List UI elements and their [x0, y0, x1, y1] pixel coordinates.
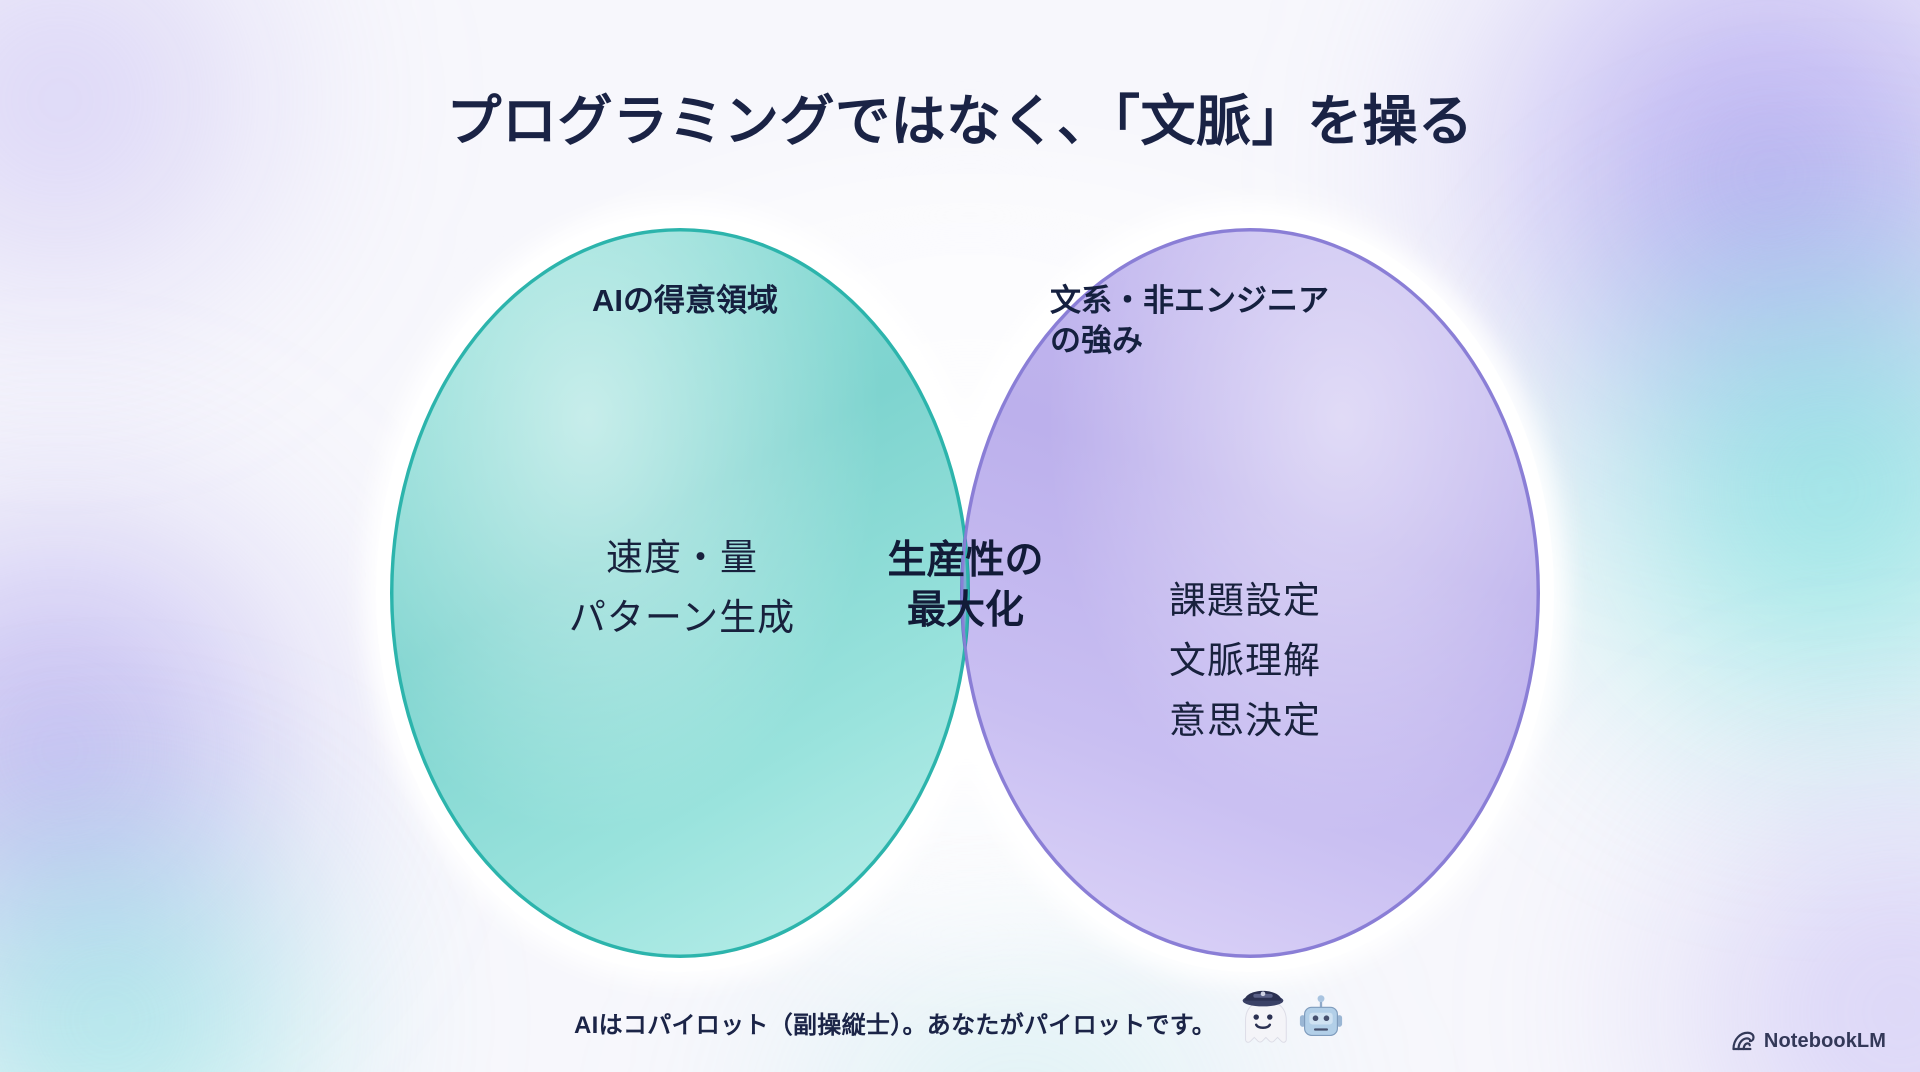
left-circle-item: 速度・量 — [462, 528, 902, 588]
notebooklm-watermark: NotebookLM — [1731, 1029, 1886, 1054]
right-circle-item: 意思決定 — [1080, 691, 1410, 751]
overlap-text-line: 最大化 — [858, 586, 1073, 636]
notebooklm-spiral-icon — [1731, 1029, 1756, 1054]
venn-overlap-text: 生産性の 最大化 — [858, 536, 1073, 636]
footer-emoji-group — [1232, 988, 1346, 1050]
footer-row: AIはコパイロット（副操縦士）。あなたがパイロットです。 — [0, 994, 1920, 1050]
left-circle-label: AIの得意領域 — [500, 281, 870, 321]
overlap-text-line: 生産性の — [858, 536, 1073, 586]
background-blob-top-left-purple — [0, 0, 370, 360]
right-circle-label: 文系・非エンジニア の強み — [1050, 281, 1450, 362]
slide-title: プログラミングではなく、「文脈」を操る — [0, 76, 1920, 156]
robot-emoji — [1296, 994, 1346, 1044]
notebooklm-brand-text: NotebookLM — [1764, 1030, 1886, 1053]
pilot-ghost-emoji — [1232, 988, 1294, 1050]
right-circle-item: 課題設定 — [1080, 571, 1410, 631]
left-circle-items: 速度・量 パターン生成 — [462, 528, 902, 648]
right-circle-label-line: の強み — [1050, 321, 1450, 361]
right-circle-items: 課題設定 文脈理解 意思決定 — [1080, 571, 1410, 751]
slide-canvas: プログラミングではなく、「文脈」を操る — [0, 0, 1920, 1072]
background-blob-left-purple — [0, 430, 380, 1070]
right-circle-label-line: 文系・非エンジニア — [1050, 281, 1450, 321]
left-circle-item: パターン生成 — [462, 588, 902, 648]
right-circle-item: 文脈理解 — [1080, 631, 1410, 691]
venn-diagram: AIの得意領域 速度・量 パターン生成 生産性の 最大化 文系・非エンジニア の… — [390, 228, 1540, 958]
footer-caption: AIはコパイロット（副操縦士）。あなたがパイロットです。 — [574, 1005, 1216, 1040]
